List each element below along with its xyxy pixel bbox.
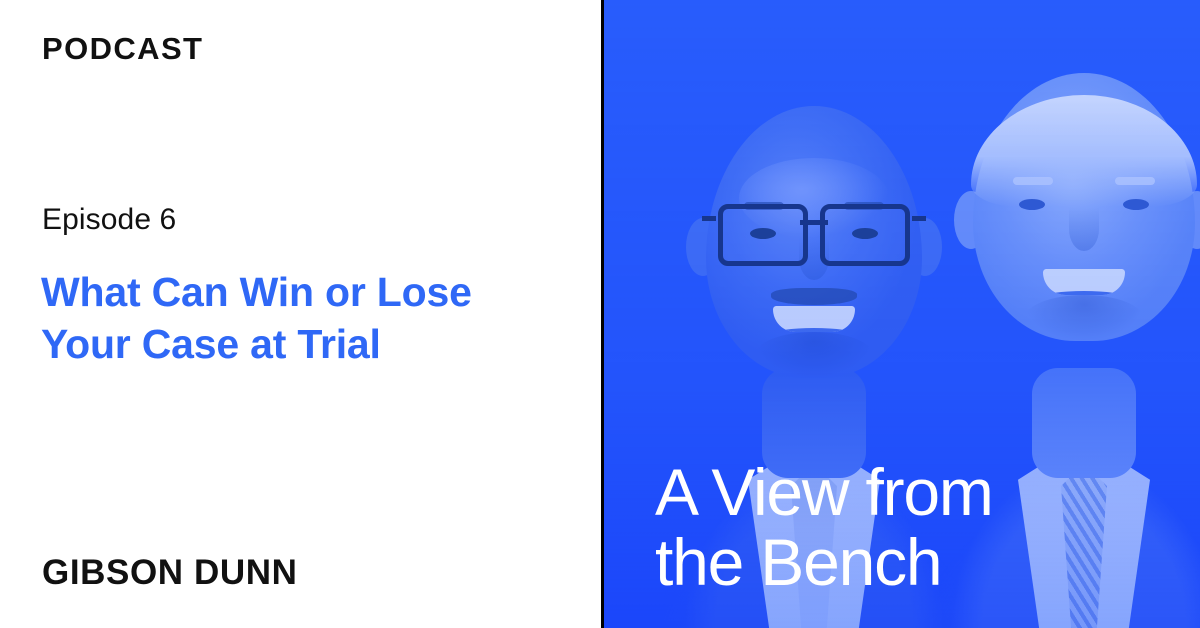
- nose-shape: [1069, 207, 1099, 251]
- head-shape: [973, 73, 1195, 341]
- right-artwork-panel: A View from the Bench: [604, 0, 1200, 628]
- glasses-bridge: [800, 220, 828, 225]
- show-title-line-2: the Bench: [655, 527, 1200, 598]
- left-info-panel: PODCAST Episode 6 What Can Win or Lose Y…: [0, 0, 601, 628]
- moustache-shape: [771, 288, 857, 305]
- lens-right: [820, 204, 910, 266]
- podcast-episode-card: PODCAST Episode 6 What Can Win or Lose Y…: [0, 0, 1200, 628]
- glasses-temple-left: [702, 216, 716, 221]
- episode-number-label: Episode 6: [42, 205, 176, 235]
- hair-shape: [971, 95, 1197, 207]
- eye-left: [1019, 199, 1045, 210]
- eye-right: [1123, 199, 1149, 210]
- smile-mouth: [1043, 269, 1125, 295]
- show-title-line-1: A View from: [655, 457, 1200, 528]
- chin-shadow: [755, 332, 873, 378]
- smile-mouth: [773, 306, 855, 332]
- episode-title-line-2: Your Case at Trial: [41, 318, 571, 370]
- gibson-dunn-logo-wordmark: GIBSON DUNN: [42, 555, 298, 590]
- eyebrow-left: [1013, 177, 1053, 185]
- eyeglasses-icon: [712, 204, 916, 260]
- eyebrow-right: [1115, 177, 1155, 185]
- show-title: A View from the Bench: [655, 457, 1200, 598]
- episode-title-line-1: What Can Win or Lose: [41, 266, 571, 318]
- glasses-temple-right: [912, 216, 926, 221]
- lens-left: [718, 204, 808, 266]
- chin-shadow: [1025, 295, 1143, 341]
- podcast-kicker-label: PODCAST: [42, 33, 203, 64]
- episode-title: What Can Win or Lose Your Case at Trial: [41, 266, 571, 371]
